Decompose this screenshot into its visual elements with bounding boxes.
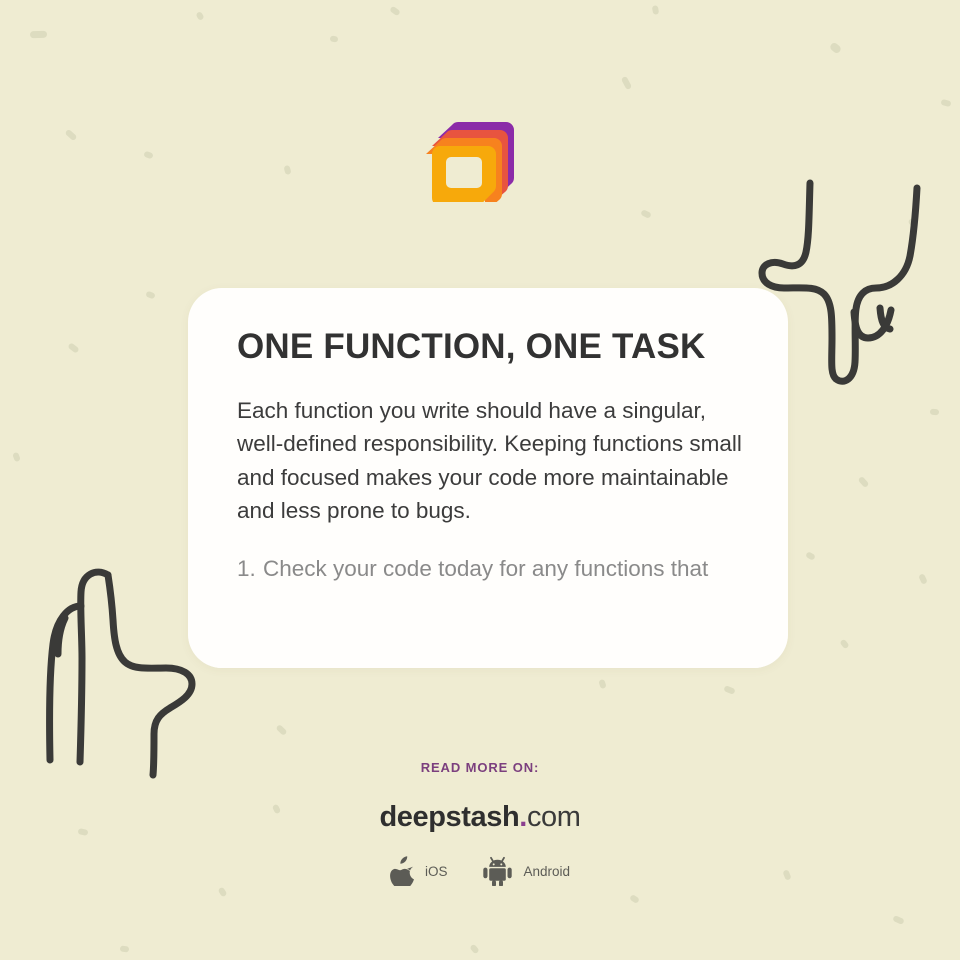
background-speck <box>907 218 917 229</box>
background-speck <box>30 31 47 39</box>
background-speck <box>12 452 21 463</box>
page-title: ONE FUNCTION, ONE TASK <box>237 322 748 372</box>
background-speck <box>275 724 287 736</box>
background-speck <box>195 11 204 21</box>
apple-icon <box>390 856 416 886</box>
background-speck <box>892 915 904 925</box>
background-speck <box>640 209 652 219</box>
background-speck <box>145 291 156 300</box>
card-body-text: Each function you write should have a si… <box>237 394 747 528</box>
card-fade-overlay <box>188 616 788 668</box>
android-badge[interactable]: Android <box>481 856 570 886</box>
background-speck <box>652 5 659 15</box>
list-item-number: 1. <box>237 552 256 586</box>
android-label: Android <box>523 864 570 879</box>
background-speck <box>629 894 640 904</box>
background-speck <box>469 944 479 955</box>
background-speck <box>283 165 291 175</box>
pointing-hand-icon <box>24 562 202 780</box>
background-speck <box>839 639 849 650</box>
deepstash-wordmark[interactable]: deepstash.com <box>0 803 960 832</box>
background-speck <box>330 35 339 42</box>
list-item-label: Check your code today for any functions … <box>263 556 708 581</box>
idea-card: ONE FUNCTION, ONE TASK Each function you… <box>188 288 788 668</box>
list-item: 1. Check your code today for any functio… <box>237 552 748 586</box>
background-speck <box>598 679 606 689</box>
background-speck <box>940 99 951 107</box>
wordmark-name: deepstash <box>379 801 519 833</box>
wordmark-tld: com <box>527 801 581 833</box>
background-speck <box>65 129 78 141</box>
background-speck <box>723 685 735 695</box>
background-speck <box>918 573 928 585</box>
wordmark-dot: . <box>519 801 527 833</box>
background-speck <box>805 551 816 561</box>
background-speck <box>858 476 870 488</box>
background-speck <box>67 342 79 354</box>
background-speck <box>218 887 228 898</box>
background-speck <box>829 41 843 54</box>
logo-amber-layer <box>432 146 496 202</box>
app-store-badges: iOS <box>0 856 960 886</box>
footer: READ MORE ON: deepstash.com iOS <box>0 760 960 886</box>
ios-badge[interactable]: iOS <box>390 856 448 886</box>
background-speck <box>120 945 130 952</box>
idea-card-content: ONE FUNCTION, ONE TASK Each function you… <box>188 288 788 585</box>
action-list: 1. Check your code today for any functio… <box>237 552 748 586</box>
android-icon <box>481 856 514 886</box>
ios-label: iOS <box>425 864 448 879</box>
background-speck <box>389 6 401 17</box>
poster-canvas: ONE FUNCTION, ONE TASK Each function you… <box>0 0 960 960</box>
read-more-label: READ MORE ON: <box>0 760 960 775</box>
background-speck <box>143 151 153 159</box>
background-speck <box>621 76 632 90</box>
deepstash-logo <box>424 102 524 202</box>
background-speck <box>930 409 939 416</box>
